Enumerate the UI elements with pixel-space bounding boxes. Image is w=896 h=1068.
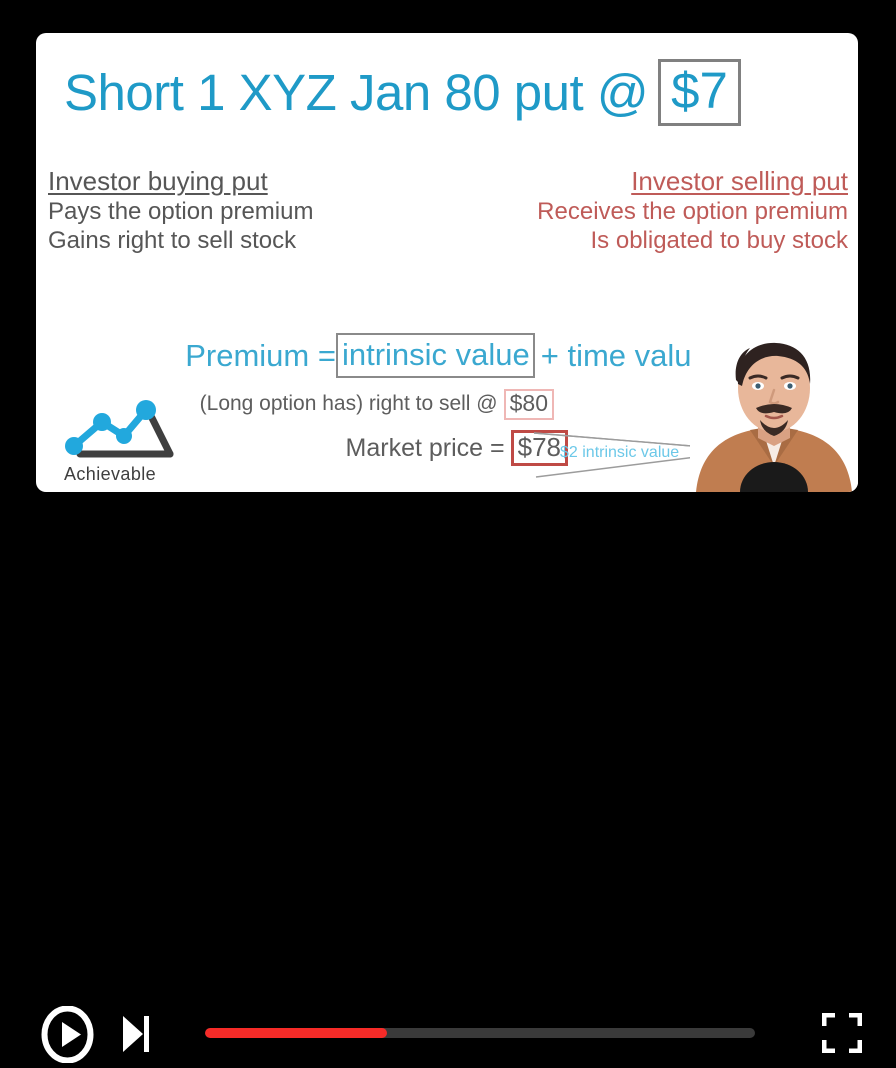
- fullscreen-button[interactable]: [822, 1013, 862, 1053]
- next-button[interactable]: [117, 1012, 153, 1056]
- example-strike-value: $80: [504, 389, 554, 420]
- slide-title: Short 1 XYZ Jan 80 put @ $7: [64, 57, 854, 127]
- example-row-market: Market price = $78: [146, 429, 606, 467]
- title-boxed-premium: $7: [658, 59, 741, 126]
- example-row-strike: (Long option has) right to sell @ $80: [146, 385, 606, 423]
- buyer-column-line-1: Pays the option premium: [48, 197, 448, 226]
- comparison-section: Investor buying put Pays the option prem…: [36, 166, 858, 261]
- example-market-label: Market price =: [346, 434, 505, 463]
- play-button[interactable]: [41, 1006, 94, 1063]
- seller-column-heading: Investor selling put: [448, 166, 848, 197]
- equation-prefix: Premium =: [185, 340, 336, 371]
- equation-boxed-term: intrinsic value: [336, 333, 535, 378]
- presenter-portrait: [690, 340, 858, 492]
- seller-column-line-1: Receives the option premium: [448, 197, 848, 226]
- play-icon: [41, 1006, 94, 1063]
- progress-bar-track[interactable]: [205, 1028, 755, 1038]
- progress-bar-fill: [205, 1028, 387, 1038]
- equation-suffix: + time value: [541, 340, 709, 371]
- intrinsic-value-example: (Long option has) right to sell @ $80 Ma…: [146, 385, 606, 467]
- presenter-webcam-inset: [690, 340, 858, 492]
- skip-next-icon: [117, 1012, 153, 1056]
- fullscreen-icon: [822, 1013, 862, 1053]
- page-title: Short 1 XYZ Jan 80 put @: [64, 67, 648, 118]
- intrinsic-value-callout: $2 intrinsic value: [560, 444, 679, 462]
- video-player: Short 1 XYZ Jan 80 put @ $7 Investor buy…: [0, 0, 896, 603]
- slide-canvas: Short 1 XYZ Jan 80 put @ $7 Investor buy…: [36, 33, 858, 492]
- buyer-column: Investor buying put Pays the option prem…: [48, 166, 448, 255]
- seller-column-line-2: Is obligated to buy stock: [448, 226, 848, 255]
- seller-column: Investor selling put Receives the option…: [448, 166, 848, 255]
- player-controls-bar: [0, 492, 896, 603]
- example-strike-label: (Long option has) right to sell @: [200, 392, 498, 416]
- buyer-column-line-2: Gains right to sell stock: [48, 226, 448, 255]
- buyer-column-heading: Investor buying put: [48, 166, 448, 197]
- achievable-wordmark: Achievable: [64, 464, 156, 485]
